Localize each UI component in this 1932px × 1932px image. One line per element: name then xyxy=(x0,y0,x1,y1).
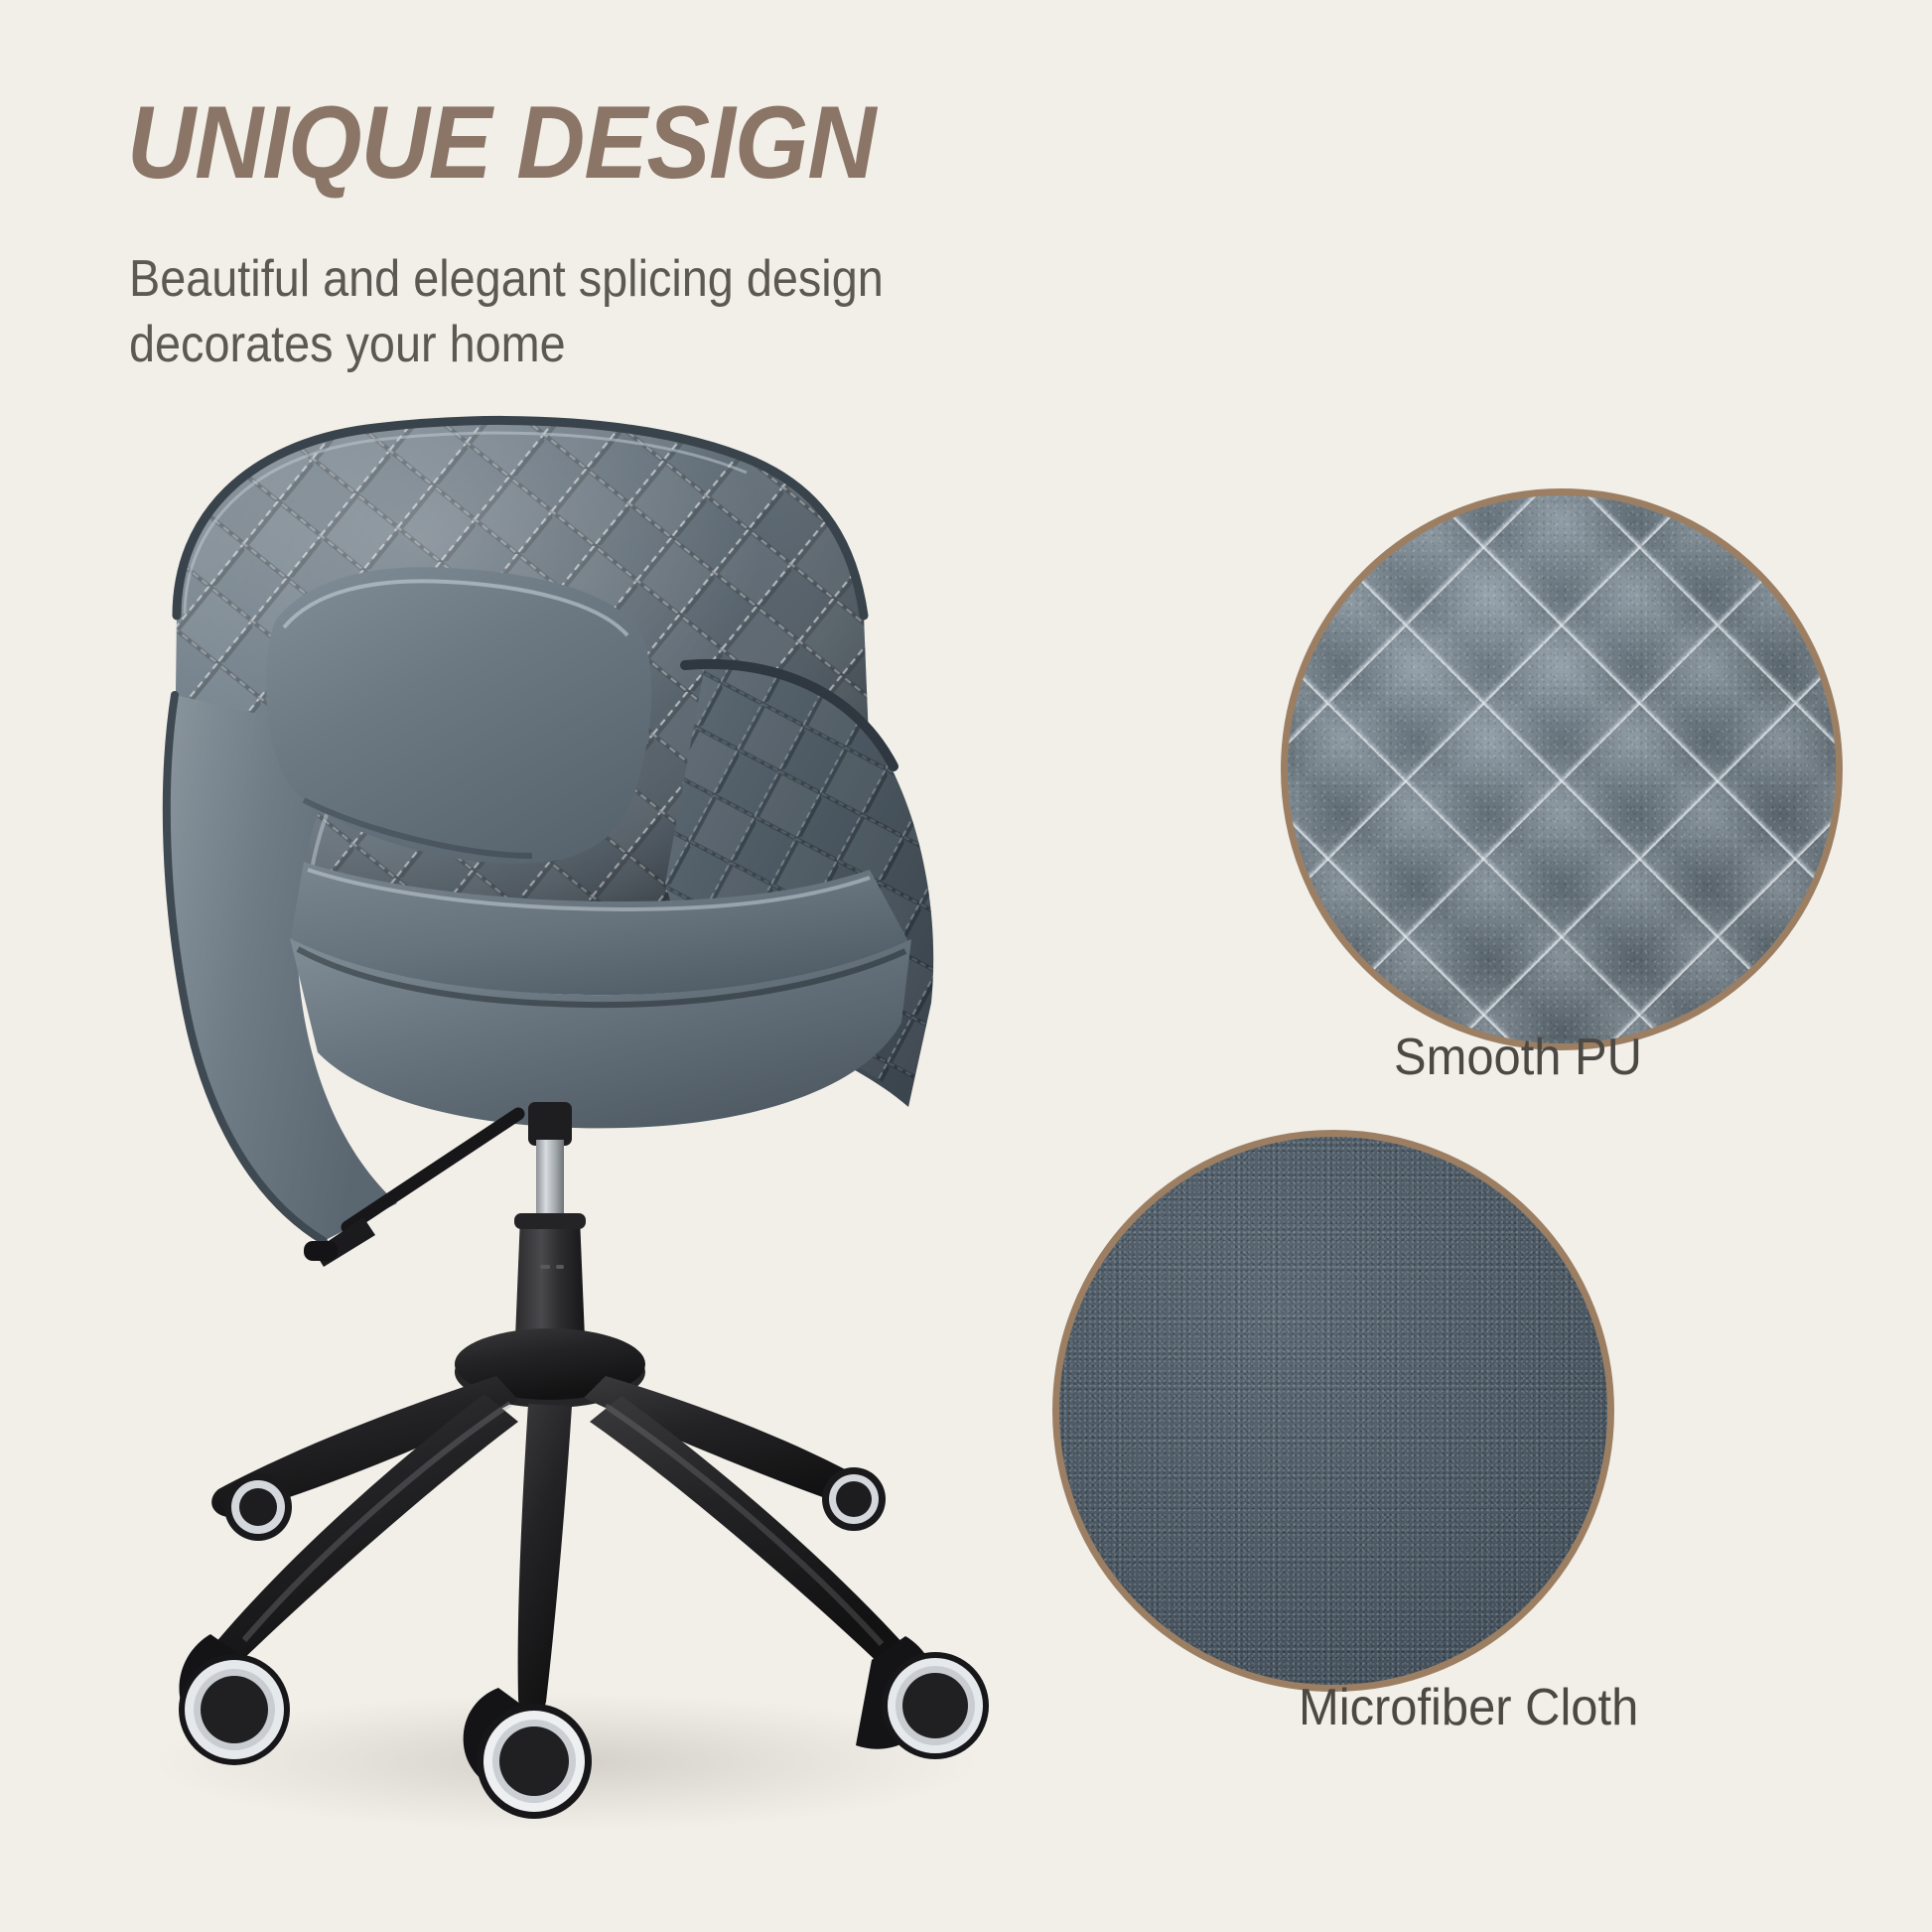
product-feature-image: UNIQUE DESIGN Beautiful and elegant spli… xyxy=(0,0,1932,1932)
product-photo xyxy=(69,367,1062,1857)
page-title: UNIQUE DESIGN xyxy=(127,91,876,195)
swatch-microfiber-cloth xyxy=(1052,1130,1614,1692)
gas-lift-cylinder xyxy=(514,1102,586,1362)
chair-base xyxy=(208,1328,910,1714)
swatch-smooth-pu xyxy=(1281,488,1843,1050)
swatch-smooth-pu-grain xyxy=(1288,495,1836,1043)
swatch-microfiber-cloth-grain xyxy=(1059,1137,1607,1685)
caster-wheel xyxy=(224,1473,292,1541)
swatch-smooth-pu-label: Smooth PU xyxy=(1394,1028,1642,1087)
caster-wheel xyxy=(822,1467,886,1531)
caster-wheel xyxy=(179,1634,290,1765)
page-subtitle: Beautiful and elegant splicing design de… xyxy=(129,246,884,377)
swatch-microfiber-cloth-label: Microfiber Cloth xyxy=(1299,1678,1638,1737)
